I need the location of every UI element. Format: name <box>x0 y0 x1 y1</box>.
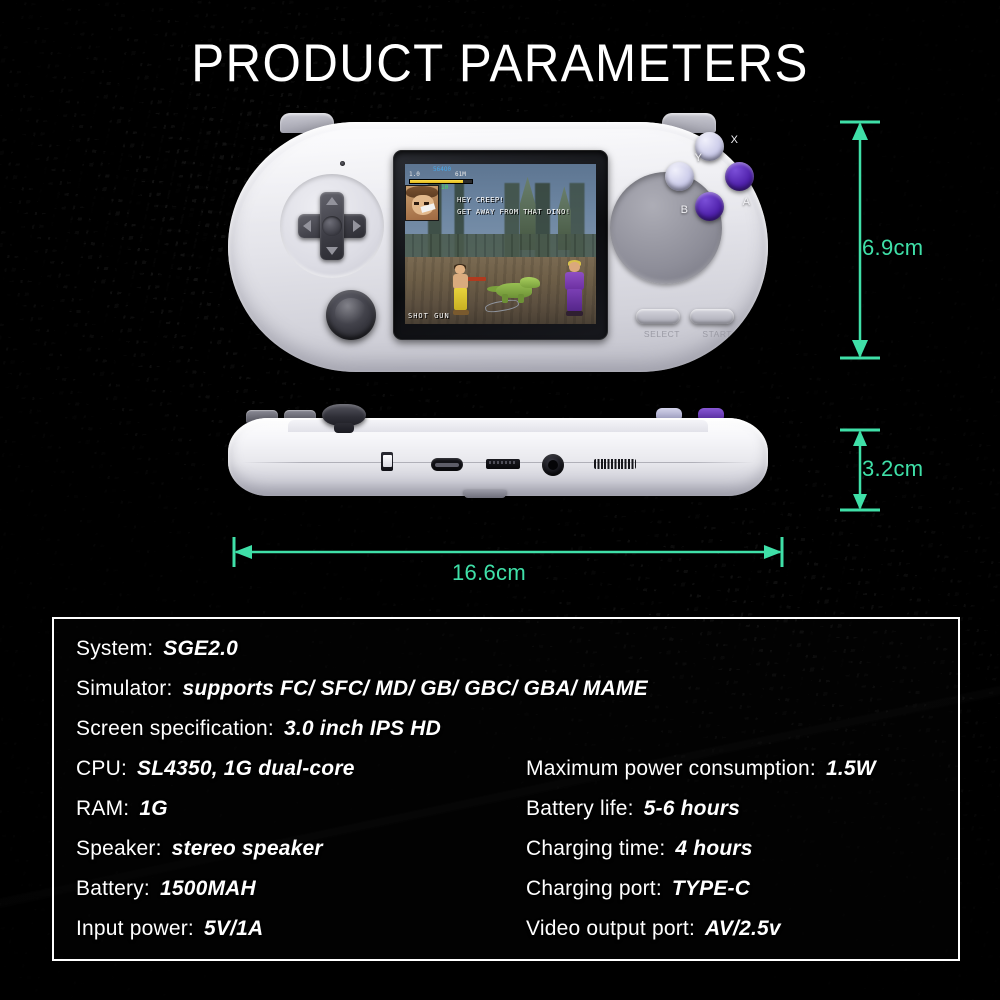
game-hero-sprite <box>451 265 471 313</box>
specification-box: System:SGE2.0Simulator:supports FC/ SFC/… <box>52 617 960 961</box>
game-dialog-line-1: HEY CREEP! <box>457 194 504 205</box>
game-dialog-line-2: GET AWAY FROM THAT DINO! <box>457 206 570 217</box>
spec-row-right-1: Battery life:5-6 hours <box>526 797 740 821</box>
button-a-label: A <box>743 196 750 208</box>
spec-row-left-7: Input power:5V/1A <box>76 917 263 941</box>
game-lives: 10 <box>441 184 448 191</box>
button-y-label: Y <box>695 152 702 164</box>
face-button-recess <box>610 172 722 284</box>
spec-value: 1G <box>139 797 167 821</box>
button-x-label: X <box>731 134 738 146</box>
dpad-down-icon[interactable] <box>326 247 338 255</box>
game-screen: 564O0 1.0 61M 10 HEY CREEP! GET AWAY FRO… <box>405 164 596 324</box>
page-stage: TECTINTERTECTINTERTECTINTERTECTINTERTECT… <box>0 0 1000 1000</box>
dpad[interactable] <box>298 192 366 260</box>
button-y[interactable] <box>665 162 694 191</box>
usb-c-port-icon <box>431 458 463 471</box>
spec-value: TYPE-C <box>672 877 750 901</box>
dpad-up-icon[interactable] <box>326 197 338 205</box>
speaker-grille-icon <box>594 459 636 469</box>
spec-value: SL4350, 1G dual-core <box>137 757 355 781</box>
button-a[interactable] <box>725 162 754 191</box>
spec-value: 1.5W <box>826 757 876 781</box>
spec-row-left-3: CPU:SL4350, 1G dual-core <box>76 757 355 781</box>
spec-row-right-3: Charging port:TYPE-C <box>526 877 750 901</box>
dpad-center-hub <box>322 216 342 236</box>
spec-row-left-5: Speaker:stereo speaker <box>76 837 323 861</box>
game-score: 564O0 <box>433 166 451 173</box>
spec-key: System: <box>76 637 153 661</box>
spec-value: 3.0 inch IPS HD <box>284 717 441 741</box>
game-dino-sprite <box>490 277 546 303</box>
spec-row-left-0: System:SGE2.0 <box>76 637 238 661</box>
select-button-label: SELECT <box>644 329 680 339</box>
power-led-icon <box>340 161 345 166</box>
spec-row-right-0: Maximum power consumption:1.5W <box>526 757 876 781</box>
spec-row-left-2: Screen specification:3.0 inch IPS HD <box>76 717 441 741</box>
spec-key: Screen specification: <box>76 717 274 741</box>
button-b-label: B <box>681 204 688 216</box>
game-weapon-label: SHOT GUN <box>408 312 450 320</box>
lanyard-notch <box>464 490 506 498</box>
game-villain-sprite <box>564 262 586 314</box>
page-title: PRODUCT PARAMETERS <box>35 33 965 94</box>
spec-row-right-2: Charging time:4 hours <box>526 837 753 861</box>
width-dimension-label: 16.6cm <box>452 560 526 586</box>
spec-key: Charging time: <box>526 837 665 861</box>
dpad-left-icon[interactable] <box>303 220 311 232</box>
side-analog-stick[interactable] <box>322 404 366 426</box>
spec-key: Charging port: <box>526 877 662 901</box>
height-dimension-label: 6.9cm <box>862 235 923 261</box>
spec-key: Speaker: <box>76 837 162 861</box>
game-portrait <box>405 185 439 221</box>
tf-card-slot-icon <box>486 459 520 469</box>
spec-row-left-1: Simulator:supports FC/ SFC/ MD/ GB/ GBC/… <box>76 677 648 701</box>
headphone-jack-icon <box>542 454 564 476</box>
spec-value: 5-6 hours <box>644 797 740 821</box>
spec-value: SGE2.0 <box>163 637 238 661</box>
spec-row-left-6: Battery:1500MAH <box>76 877 256 901</box>
spec-key: CPU: <box>76 757 127 781</box>
handheld-console-front-view: 564O0 1.0 61M 10 HEY CREEP! GET AWAY FRO… <box>228 122 768 372</box>
spec-row-left-4: RAM:1G <box>76 797 168 821</box>
dpad-right-icon[interactable] <box>353 220 361 232</box>
spec-key: Maximum power consumption: <box>526 757 816 781</box>
screen-bezel: 564O0 1.0 61M 10 HEY CREEP! GET AWAY FRO… <box>393 150 608 340</box>
spec-key: Input power: <box>76 917 194 941</box>
specification-grid: System:SGE2.0Simulator:supports FC/ SFC/… <box>54 619 958 959</box>
spec-value: 1500MAH <box>160 877 256 901</box>
spec-key: Simulator: <box>76 677 173 701</box>
spec-key: RAM: <box>76 797 129 821</box>
spec-value: 5V/1A <box>204 917 263 941</box>
thickness-dimension-label: 3.2cm <box>862 456 923 482</box>
select-button[interactable] <box>636 309 680 324</box>
power-switch[interactable] <box>381 452 393 471</box>
start-button[interactable] <box>690 309 734 324</box>
spec-row-right-4: Video output port:AV/2.5v <box>526 917 781 941</box>
handheld-console-bottom-edge-view <box>228 404 768 512</box>
game-player-label: 1.0 <box>409 171 420 178</box>
spec-value: AV/2.5v <box>705 917 781 941</box>
spec-key: Battery life: <box>526 797 634 821</box>
spec-key: Battery: <box>76 877 150 901</box>
spec-value: supports FC/ SFC/ MD/ GB/ GBC/ GBA/ MAME <box>183 677 648 701</box>
start-button-label: START <box>702 329 732 339</box>
analog-stick[interactable] <box>326 290 376 340</box>
game-time: 61M <box>455 171 466 178</box>
spec-value: stereo speaker <box>172 837 323 861</box>
button-b[interactable] <box>695 192 724 221</box>
spec-key: Video output port: <box>526 917 695 941</box>
spec-value: 4 hours <box>675 837 752 861</box>
